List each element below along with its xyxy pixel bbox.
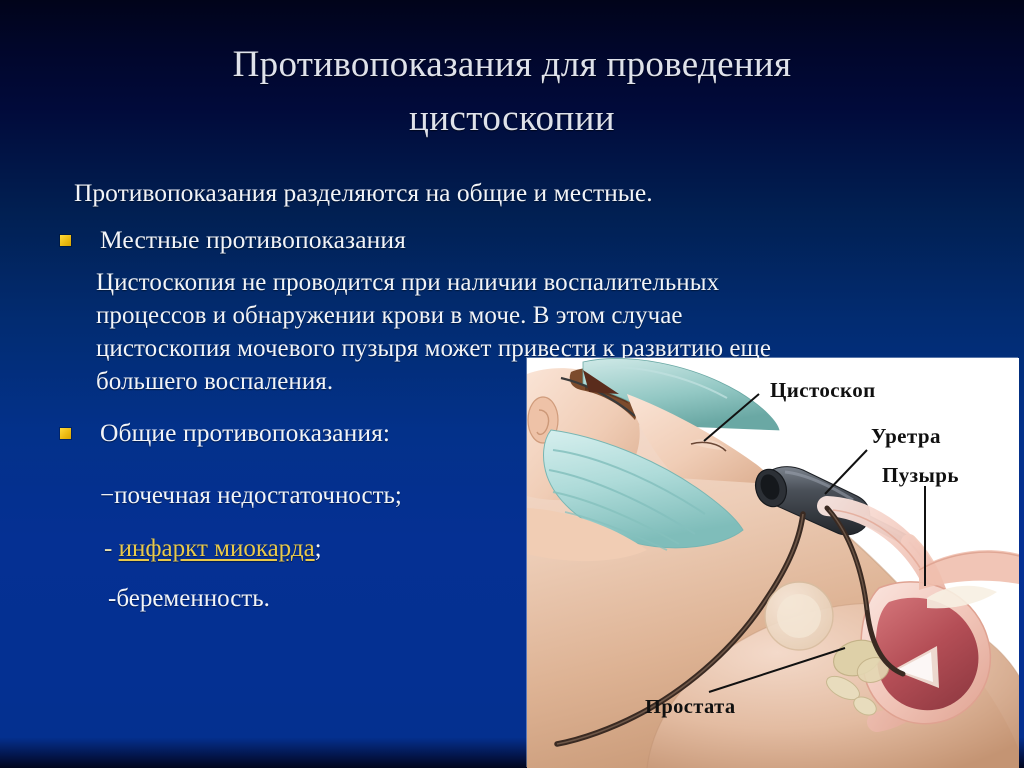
- list-dash: −: [100, 482, 114, 509]
- label-cystoscope: Цистоскоп: [770, 378, 876, 403]
- list-item-suffix: ;: [315, 535, 322, 562]
- square-bullet-icon: [60, 235, 71, 246]
- cystoscopy-illustration: Цистоскоп Уретра Пузырь Простата: [527, 358, 1019, 768]
- square-bullet-icon: [60, 428, 71, 439]
- cystoscopy-diagram-svg: [527, 358, 1019, 768]
- bullet-label-general: Общие противопоказания:: [100, 418, 390, 447]
- title-line-2: цистоскопии: [90, 92, 934, 146]
- list-item-text: почечная недостаточность;: [114, 482, 402, 509]
- label-prostate: Простата: [645, 696, 736, 719]
- bullet-label-local: Местные противопоказания: [100, 225, 406, 254]
- label-urethra: Уретра: [871, 424, 941, 449]
- bullet-local-contraindications: Местные противопоказания: [0, 223, 770, 258]
- hyperlink-myocardial-infarction[interactable]: инфаркт миокарда: [119, 535, 315, 562]
- list-item-text: беременность.: [116, 585, 270, 612]
- label-bladder: Пузырь: [882, 463, 959, 488]
- lead-paragraph: Противопоказания разделяются на общие и …: [74, 176, 770, 209]
- slide: Противопоказания для проведения цистоско…: [0, 0, 1024, 768]
- title-line-1: Противопоказания для проведения: [90, 38, 934, 92]
- list-dash: -: [104, 535, 119, 562]
- page-title: Противопоказания для проведения цистоско…: [90, 38, 934, 145]
